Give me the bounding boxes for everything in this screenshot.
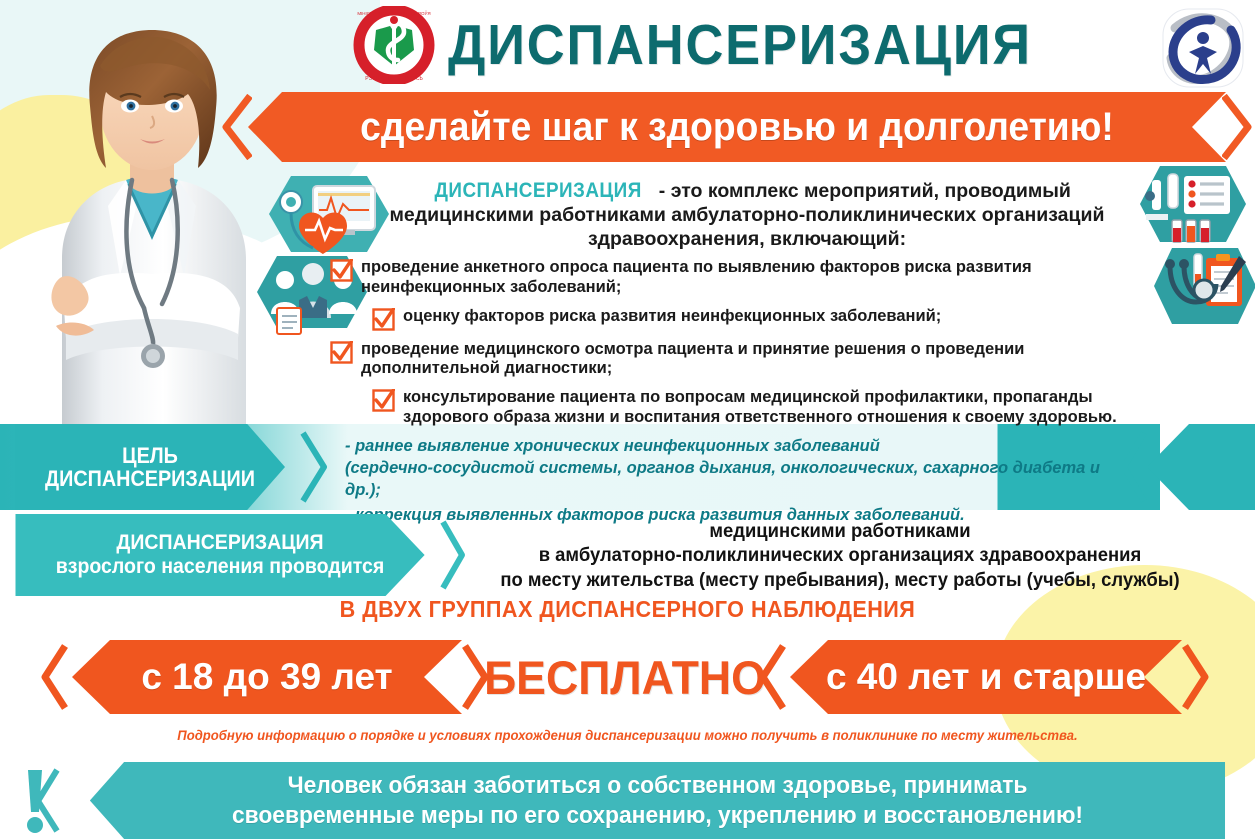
- goal-right-cap: [1147, 424, 1255, 510]
- goal-label: ЦЕЛЬ ДИСПАНСЕРИЗАЦИИ: [15, 424, 285, 510]
- headline-banner: сделайте шаг к здоровью и долголетию!: [248, 92, 1226, 162]
- checkmark-icon: [372, 389, 395, 412]
- poster-header: МІНІСТЭРСТВА АХОВЫ ЗДАРОЎЯ РЭСПУБЛІКІ БЕ…: [0, 0, 1255, 90]
- adult-label-line1: ДИСПАНСЕРИЗАЦИЯ: [116, 531, 323, 555]
- page-title: ДИСПАНСЕРИЗАЦИЯ: [363, 5, 1117, 85]
- adult-body-line1: медицинскими работниками: [481, 520, 1199, 544]
- goal-body-line2: (сердечно-сосудистой системы, органов ды…: [345, 458, 1135, 502]
- chevron-left-decoration-2: [758, 643, 786, 711]
- adult-body-line3: по месту жительства (месту пребывания), …: [481, 569, 1199, 593]
- intro-keyword: ДИСПАНСЕРИЗАЦИЯ: [435, 178, 642, 204]
- bottom-banner-row: Человек обязан заботиться о собственном …: [0, 762, 1255, 839]
- chevron-right-decoration: [1222, 94, 1252, 160]
- headline-text: сделайте шаг к здоровью и долголетию!: [282, 92, 1192, 162]
- goal-right-chevron-icon: [1121, 430, 1147, 504]
- age-banner-senior: с 40 лет и старше: [790, 640, 1182, 714]
- checkmark-icon: [372, 308, 395, 331]
- adult-body-line2: в амбулаторно-поликлинических организаци…: [481, 544, 1199, 568]
- bottom-banner-line2: своевременные меры по его сохранению, ук…: [232, 801, 1083, 831]
- adult-body: медицинскими работниками в амбулаторно-п…: [481, 520, 1199, 593]
- adult-label: ДИСПАНСЕРИЗАЦИЯ взрослого населения пров…: [15, 514, 424, 596]
- goal-label-line2: ДИСПАНСЕРИЗАЦИИ: [45, 467, 255, 490]
- list-item: оценку факторов риска развития неинфекци…: [330, 307, 1160, 331]
- checkmark-icon: [330, 341, 353, 364]
- fine-print: Подробную информацию о порядке и условия…: [19, 728, 1236, 743]
- groups-line: В ДВУХ ГРУППАХ ДИСПАНСЕРНОГО НАБЛЮДЕНИЯ: [38, 596, 1218, 623]
- checkmark-icon: [330, 259, 353, 282]
- free-label: БЕСПЛАТНО: [478, 640, 773, 714]
- goal-section: ЦЕЛЬ ДИСПАНСЕРИЗАЦИИ - раннее выявление …: [0, 424, 1255, 510]
- adult-screening-section: ДИСПАНСЕРИЗАЦИЯ взрослого населения пров…: [0, 514, 1255, 596]
- bottom-banner-line1: Человек обязан заботиться о собственном …: [288, 771, 1028, 801]
- checklist: проведение анкетного опроса пациента по …: [330, 258, 1160, 437]
- list-item-label: консультирование пациента по вопросам ме…: [403, 388, 1160, 428]
- list-item: консультирование пациента по вопросам ме…: [330, 388, 1160, 428]
- list-item: проведение анкетного опроса пациента по …: [330, 258, 1160, 298]
- chevron-right-decoration-2: [1182, 643, 1210, 711]
- age-banner-young: с 18 до 39 лет: [72, 640, 462, 714]
- chevron-left-decoration-3: [34, 767, 60, 834]
- health-organization-logo: [1159, 6, 1247, 90]
- list-item-label: проведение медицинского осмотра пациента…: [361, 340, 1160, 380]
- adult-chevron-icon: [440, 519, 466, 591]
- age-banners: с 18 до 39 лет БЕСПЛАТНО с 40 лет и стар…: [0, 640, 1255, 714]
- goal-body-line1: - раннее выявление хронических неинфекци…: [345, 436, 1135, 458]
- goal-chevron-icon: [300, 430, 328, 504]
- list-item-label: проведение анкетного опроса пациента по …: [361, 258, 1160, 298]
- bottom-banner: Человек обязан заботиться о собственном …: [90, 762, 1225, 839]
- chevron-left-decoration: [40, 643, 68, 711]
- list-item: проведение медицинского осмотра пациента…: [330, 340, 1160, 380]
- list-item-label: оценку факторов риска развития неинфекци…: [403, 307, 941, 327]
- intro-paragraph: ДИСПАНСЕРИЗАЦИЯ - это комплекс мероприят…: [352, 178, 1142, 251]
- adult-label-line2: взрослого населения проводится: [56, 555, 385, 579]
- goal-label-line1: ЦЕЛЬ: [122, 444, 178, 467]
- chevron-left-decoration: [222, 94, 252, 160]
